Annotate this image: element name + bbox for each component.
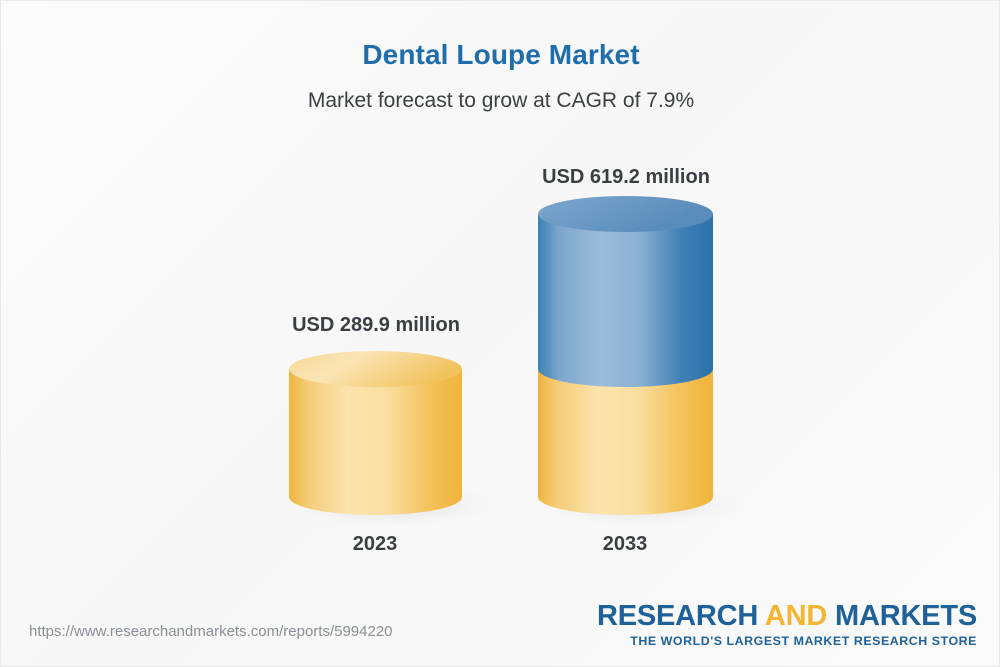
brand-word-and: AND: [758, 600, 835, 632]
bar-2033-top: [538, 196, 713, 232]
value-label-2033: USD 619.2 million: [451, 166, 801, 189]
source-url[interactable]: https://www.researchandmarkets.com/repor…: [29, 623, 393, 640]
bar-2033[interactable]: [537, 196, 745, 526]
bar-2023-body: [289, 369, 462, 515]
chart-canvas: Dental Loupe Market Market forecast to g…: [0, 0, 1000, 667]
bar-2033-growth-segment: [538, 214, 713, 387]
brand-logo[interactable]: RESEARCH AND MARKETS THE WORLD'S LARGEST…: [597, 601, 977, 648]
brand-tagline: THE WORLD'S LARGEST MARKET RESEARCH STOR…: [597, 634, 977, 648]
plot-area: USD 289.9 million USD 619.2 million 2023…: [1, 1, 1000, 667]
bar-2023-top: [289, 351, 462, 387]
brand-word-research: RESEARCH: [597, 600, 758, 632]
category-label-2023: 2023: [255, 533, 495, 556]
value-label-2023: USD 289.9 million: [201, 314, 551, 337]
bar-2023[interactable]: [287, 351, 495, 526]
bar-2033-base-segment: [538, 369, 713, 515]
category-label-2033: 2033: [505, 533, 745, 556]
brand-word-markets: MARKETS: [835, 600, 977, 632]
brand-wordmark: RESEARCH AND MARKETS: [597, 601, 977, 631]
